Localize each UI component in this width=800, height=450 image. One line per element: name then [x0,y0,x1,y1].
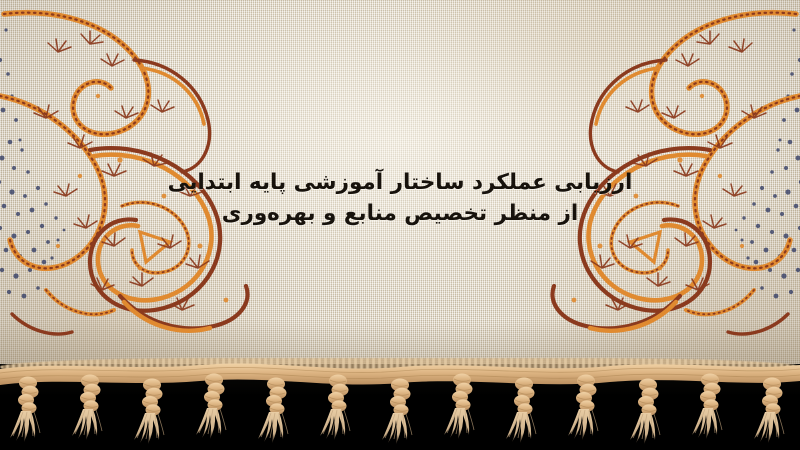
title-line-2: از منظر تخصیص منابع و بهره‌وری [0,199,800,230]
slide-title: ارزیابی عملکرد ساختار آموزشی پایه ابتدای… [0,168,800,229]
navy-stipple-field [0,28,65,298]
tassel-item [568,375,598,441]
tassel-item [692,374,722,440]
tassel-item [382,379,412,445]
tassel-item [258,378,288,444]
tassel-item [72,375,102,441]
navy-stipple-field [735,28,800,298]
tassel-item [754,378,784,444]
tassel-fringe [0,355,800,450]
tassel-item [10,377,40,443]
tassel-item [134,379,164,445]
tassel-item [444,374,474,440]
tassel-item [506,378,536,444]
tassel-item [196,374,226,440]
tassel-item [320,375,350,441]
tassel-item [630,379,660,445]
title-line-1: ارزیابی عملکرد ساختار آموزشی پایه ابتدای… [0,168,800,199]
slide-canvas: ارزیابی عملکرد ساختار آموزشی پایه ابتدای… [0,0,800,450]
